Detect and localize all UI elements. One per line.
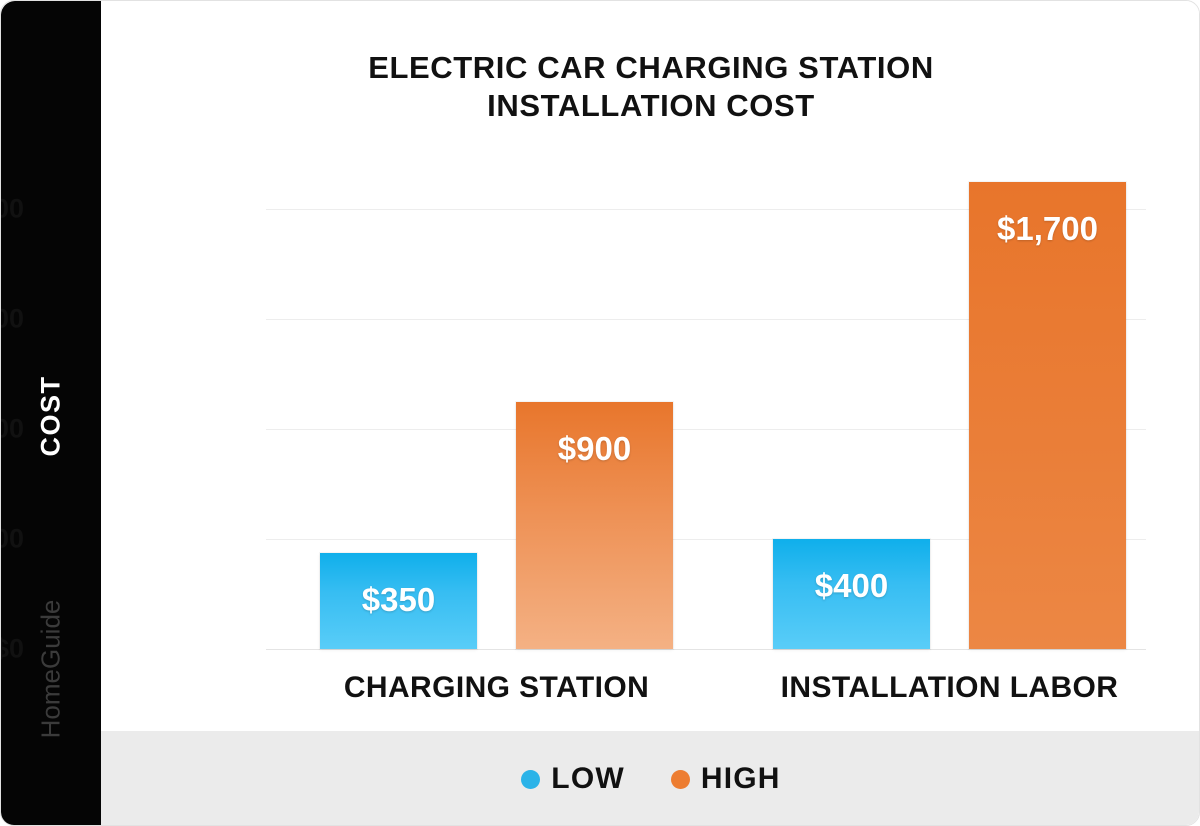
y-axis-title: COST — [36, 375, 67, 456]
bar-high-2[interactable]: $1,700 — [969, 182, 1126, 650]
bar-value-label: $350 — [320, 581, 477, 619]
x-axis-category-label: INSTALLATION LABOR — [781, 671, 1119, 705]
plot-container: ELECTRIC CAR CHARGING STATION INSTALLATI… — [101, 1, 1200, 826]
page-title: ELECTRIC CAR CHARGING STATION INSTALLATI… — [101, 49, 1200, 125]
bar-value-label: $400 — [773, 567, 930, 605]
bar-value-label: $1,700 — [969, 210, 1126, 248]
y-axis-tick-label: $1,600 — [0, 194, 24, 225]
brand-watermark: HomeGuide — [36, 600, 67, 739]
legend-label: HIGH — [701, 762, 781, 796]
bar-low-2[interactable]: $400 — [773, 539, 930, 649]
legend-item-high[interactable]: HIGH — [671, 762, 781, 796]
blue-dot-icon — [521, 770, 540, 789]
y-axis-tick-label: $400 — [0, 524, 24, 555]
legend-item-low[interactable]: LOW — [521, 762, 625, 796]
bar-high-1[interactable]: $900 — [516, 402, 673, 650]
plot-area: $0$400$800$1,200$1,600$350$900CHARGING S… — [266, 209, 1146, 649]
chart-card: COST HomeGuide ELECTRIC CAR CHARGING STA… — [0, 0, 1200, 826]
y-axis-tick-label: $1,200 — [0, 304, 24, 335]
bar-value-label: $900 — [516, 430, 673, 468]
gridline — [266, 649, 1146, 650]
x-axis-category-label: CHARGING STATION — [344, 671, 649, 705]
orange-dot-icon — [671, 770, 690, 789]
legend-label: LOW — [551, 762, 625, 796]
legend: LOW HIGH — [101, 731, 1200, 826]
y-axis-tick-label: $800 — [0, 414, 24, 445]
y-axis-tick-label: $0 — [0, 634, 24, 665]
bar-low-1[interactable]: $350 — [320, 553, 477, 649]
